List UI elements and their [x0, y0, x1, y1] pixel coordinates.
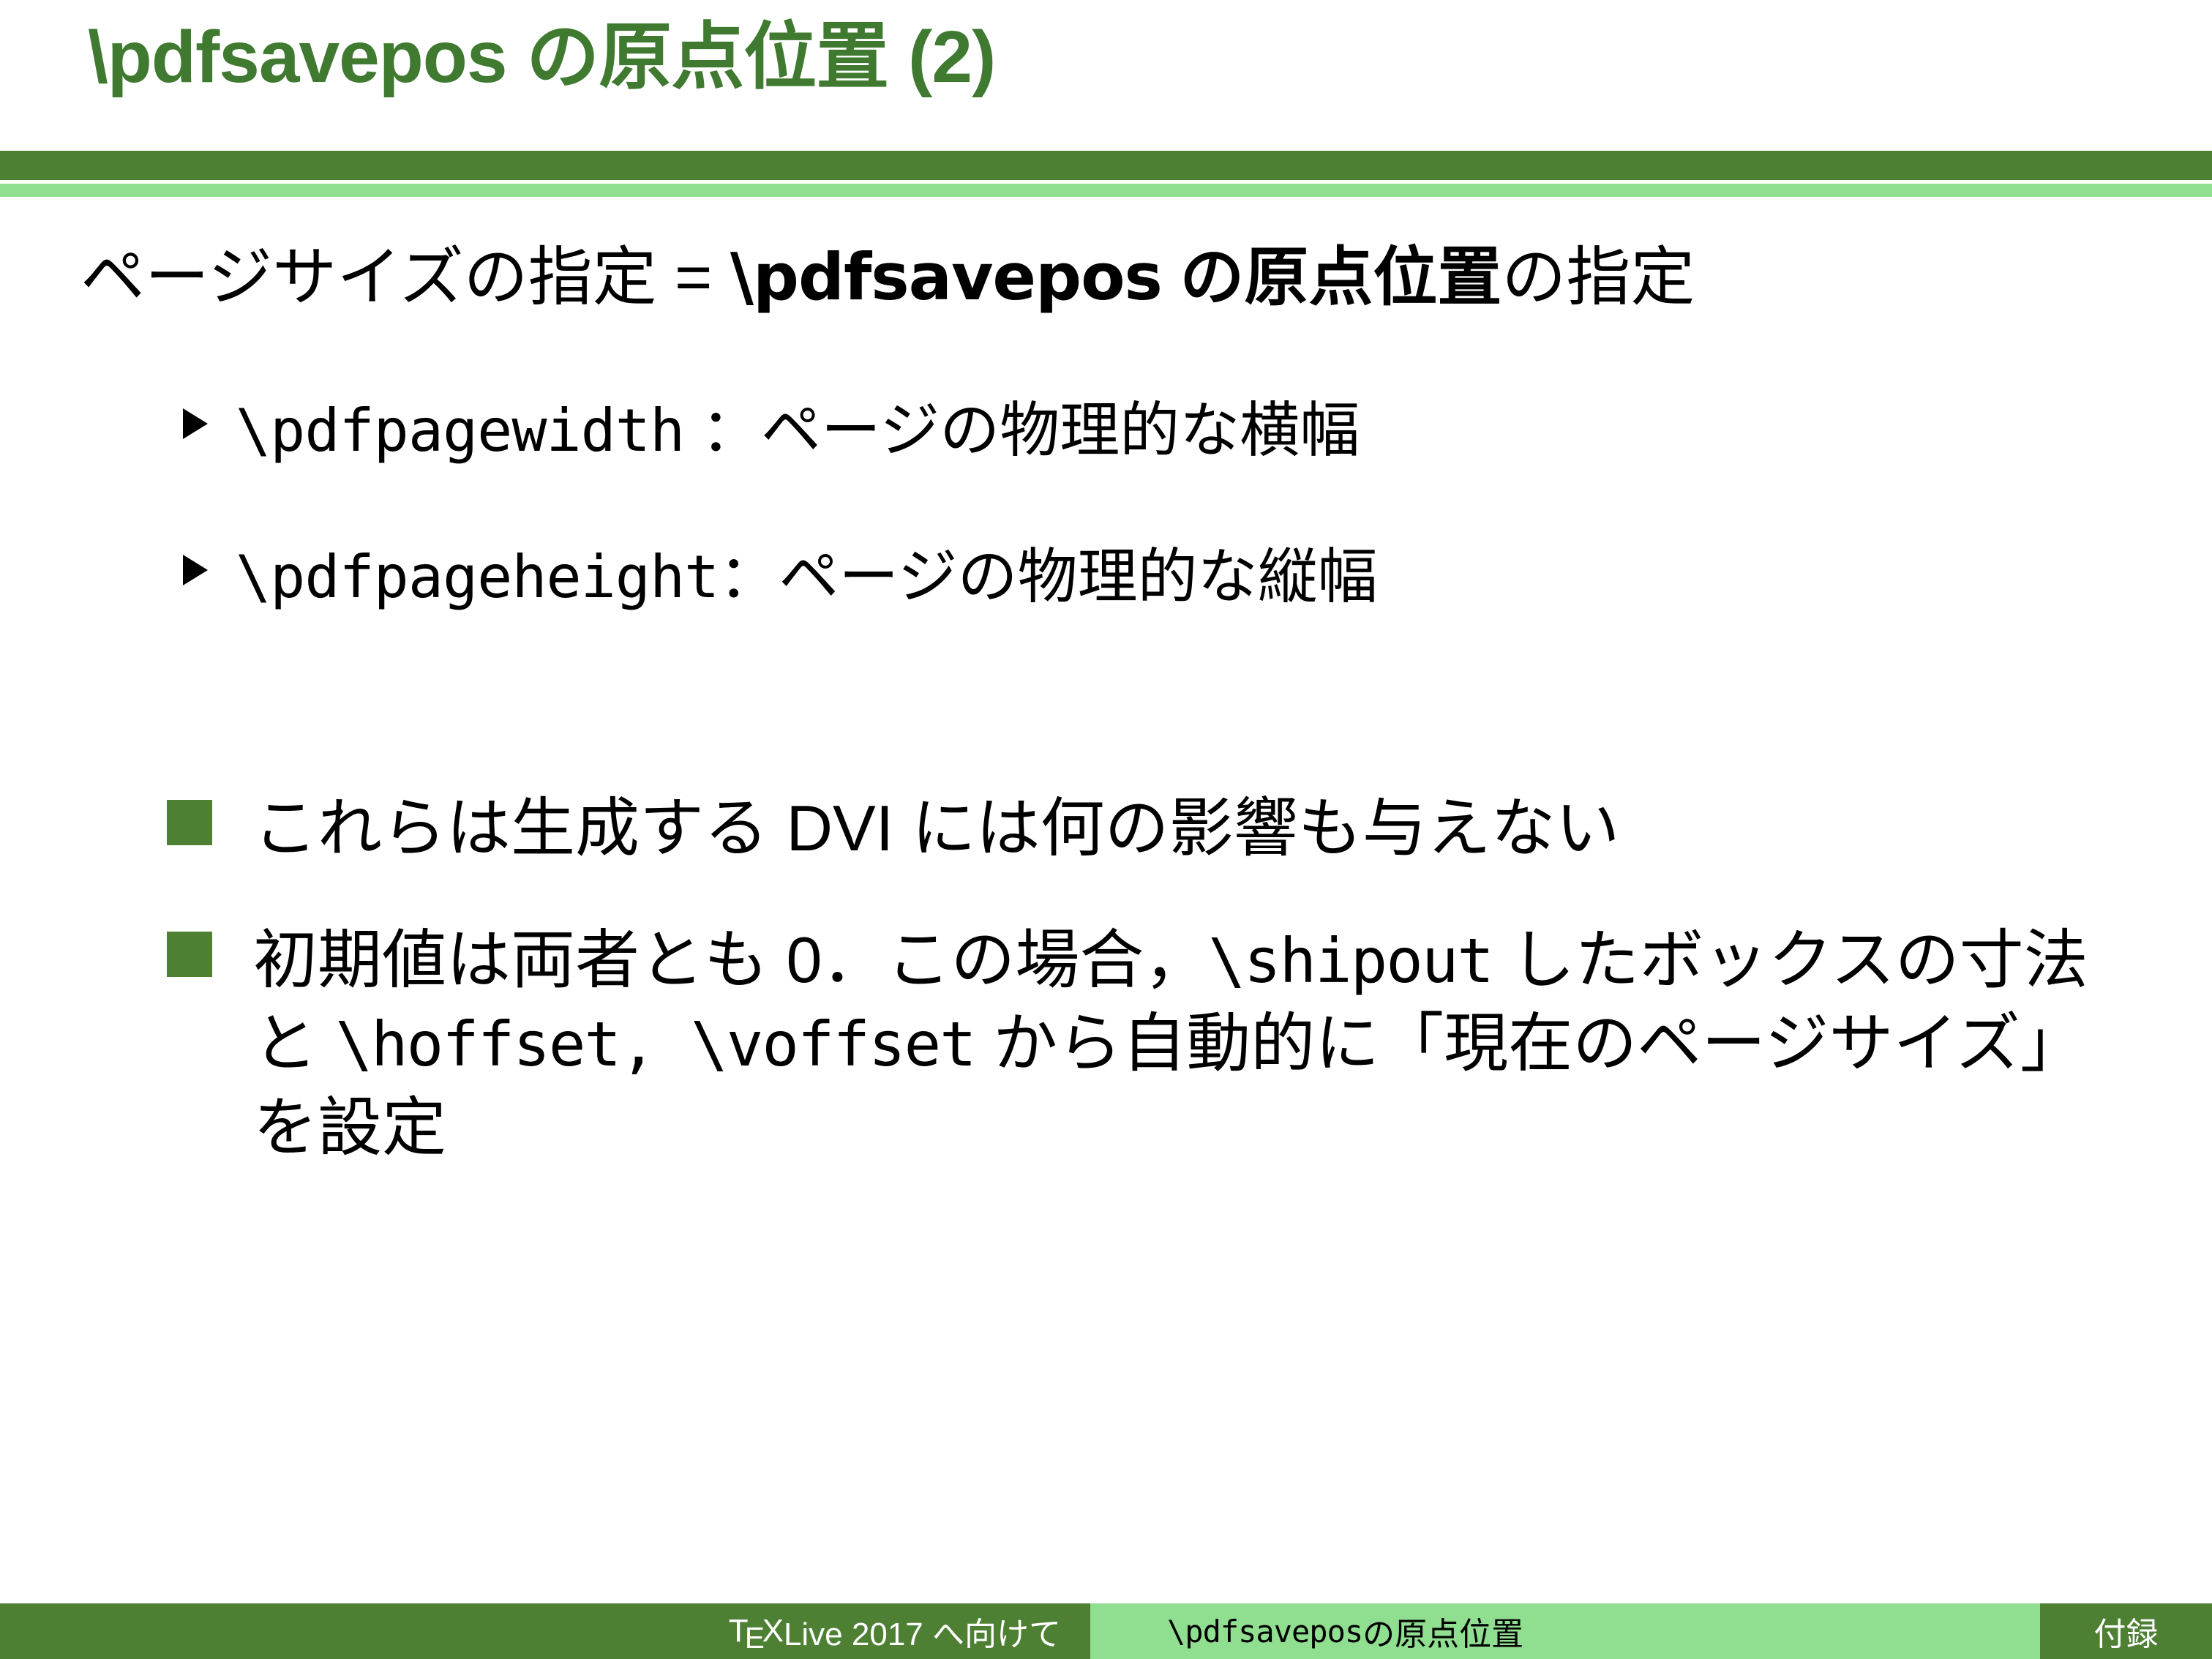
tex-logo-e: E [745, 1621, 765, 1655]
square-bullet-icon [167, 932, 212, 977]
label-pdfpageheight: ：ページの物理的な縦幅 [719, 544, 1377, 610]
code-pdfpagewidth: \pdfpagewidth [236, 397, 684, 465]
list-item-initial-value-note: 初期値は両者とも 0．この場合，\shipout したボックスの寸法と \hof… [167, 918, 2099, 1169]
triangle-bullet-icon [183, 555, 208, 585]
footer-mid-text: の原点位置 [1362, 1608, 1523, 1655]
segment-jp: これらは生成する DVI には何の影響も与えない [253, 792, 1620, 864]
list-item-text: 初期値は両者とも 0．この場合，\shipout したボックスの寸法と \hof… [253, 918, 2099, 1169]
lead-emphasis-jp: の原点位置 [1162, 241, 1501, 313]
list-item-dvi-note: これらは生成する DVI には何の影響も与えない [167, 787, 2099, 870]
tex-logo: TEX [729, 1613, 784, 1649]
code-pdfpageheight: \pdfpageheight [236, 543, 719, 611]
footer-left-rest: Live 2017 へ向けて [784, 1608, 1061, 1655]
title-rule-light [0, 184, 2212, 197]
lead-suffix: の指定 [1501, 241, 1695, 313]
title-rule-dark [0, 151, 2212, 180]
segment-code-shipout: \shipout [1208, 925, 1493, 997]
tex-logo-x: X [762, 1613, 784, 1649]
footer-section-title[interactable]: \pdfsavepos の原点位置 [1090, 1603, 2040, 1659]
lead-prefix: ページサイズの指定 = [80, 241, 730, 313]
footer-mid-code: \pdfsavepos [1167, 1614, 1362, 1649]
footer-right-label: 付録 [2094, 1608, 2159, 1655]
label-pdfpagewidth: ：ページの物理的な横幅 [684, 397, 1360, 464]
lead-line: ページサイズの指定 = \pdfsavepos の原点位置の指定 [80, 240, 1695, 314]
list-item-text: これらは生成する DVI には何の影響も与えない [253, 787, 2099, 870]
list-item-pdfpageheight: \pdfpageheight：ページの物理的な縦幅 [183, 544, 1378, 610]
square-bullet-icon [167, 800, 212, 845]
lead-emphasis-code: \pdfsavepos [730, 239, 1162, 315]
page-title: \pdfsavepos の原点位置 (2) [88, 13, 995, 101]
footer-part-title[interactable]: 付録 [2040, 1603, 2212, 1659]
segment-code-offsets: \hoffset, \voffset [335, 1008, 975, 1080]
footer-presentation-title[interactable]: TEX Live 2017 へ向けて [0, 1603, 1090, 1659]
segment-jp-1: 初期値は両者とも 0．この場合， [253, 924, 1208, 996]
triangle-bullet-icon [183, 408, 208, 439]
list-item-pdfpagewidth: \pdfpagewidth ：ページの物理的な横幅 [183, 398, 1360, 464]
footer-bar: TEX Live 2017 へ向けて \pdfsavepos の原点位置 付録 [0, 1603, 2212, 1659]
